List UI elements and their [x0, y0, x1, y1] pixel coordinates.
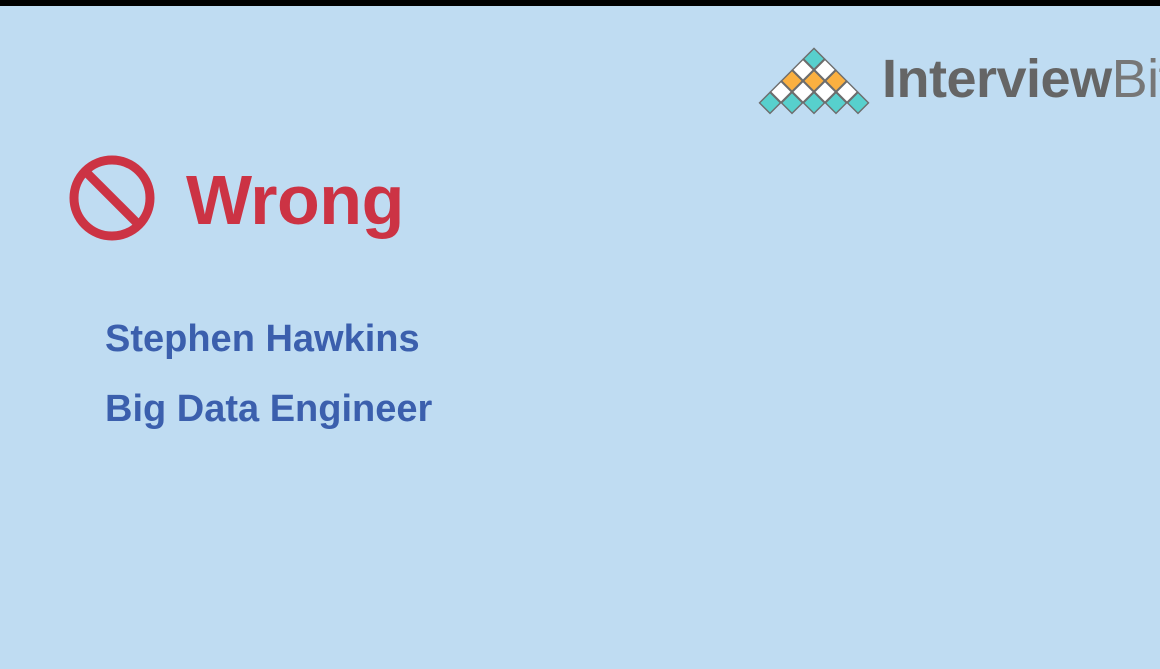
page-title: Wrong [186, 165, 404, 235]
top-letterbox-bar [0, 0, 1160, 6]
interviewbit-logo[interactable]: InterviewBit [758, 43, 1160, 121]
interviewbit-wordmark: InterviewBit [882, 52, 1160, 106]
logo-word-bit: Bit [1112, 49, 1160, 109]
speaker-role: Big Data Engineer [105, 390, 432, 428]
speaker-name: Stephen Hawkins [105, 320, 432, 358]
interviewbit-diamond-pyramid-logo-icon [758, 45, 870, 119]
logo-word-interview: Interview [882, 49, 1112, 109]
speaker-details: Stephen Hawkins Big Data Engineer [105, 320, 432, 428]
prohibited-icon [66, 152, 158, 244]
slide-canvas: InterviewBit Wrong Stephen Hawkins Big D… [0, 0, 1160, 669]
headline-row: Wrong [66, 152, 404, 244]
